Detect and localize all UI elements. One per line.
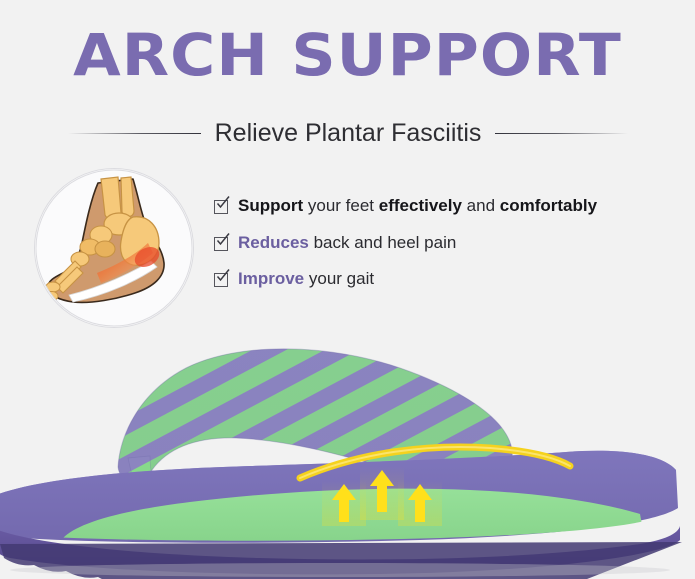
- benefit-text-part: your feet: [303, 196, 379, 215]
- benefit-text-part: back and heel pain: [309, 233, 456, 252]
- divider-line-left: [68, 133, 201, 134]
- foot-anatomy-svg: [35, 169, 193, 327]
- divider-line-right: [495, 133, 628, 134]
- list-item: Support your feet effectively and comfor…: [214, 196, 684, 216]
- product-image-sandal: [0, 330, 695, 579]
- benefits-list: Support your feet effectively and comfor…: [214, 196, 684, 306]
- checkbox-checked-icon: [214, 236, 229, 251]
- benefit-text: Support your feet effectively and comfor…: [238, 196, 597, 216]
- sandal-svg: [0, 330, 695, 579]
- benefit-keyword: effectively: [379, 196, 462, 215]
- benefit-text-part: and: [462, 196, 500, 215]
- checkbox-checked-icon: [214, 199, 229, 214]
- benefit-keyword: Improve: [238, 269, 304, 288]
- benefit-text: Improve your gait: [238, 269, 374, 289]
- product-feature-image: ARCH SUPPORT Relieve Plantar Fasciitis: [0, 0, 695, 579]
- page-title: ARCH SUPPORT: [0, 26, 695, 84]
- benefit-text-part: your gait: [304, 269, 374, 288]
- list-item: Reduces back and heel pain: [214, 233, 684, 253]
- benefit-keyword: comfortably: [500, 196, 597, 215]
- benefit-keyword: Reduces: [238, 233, 309, 252]
- subtitle-row: Relieve Plantar Fasciitis: [68, 116, 628, 150]
- list-item: Improve your gait: [214, 269, 684, 289]
- page-subtitle: Relieve Plantar Fasciitis: [215, 119, 482, 148]
- foot-anatomy-illustration: [34, 168, 194, 328]
- benefit-keyword: Support: [238, 196, 303, 215]
- benefit-text: Reduces back and heel pain: [238, 233, 456, 253]
- checkbox-checked-icon: [214, 272, 229, 287]
